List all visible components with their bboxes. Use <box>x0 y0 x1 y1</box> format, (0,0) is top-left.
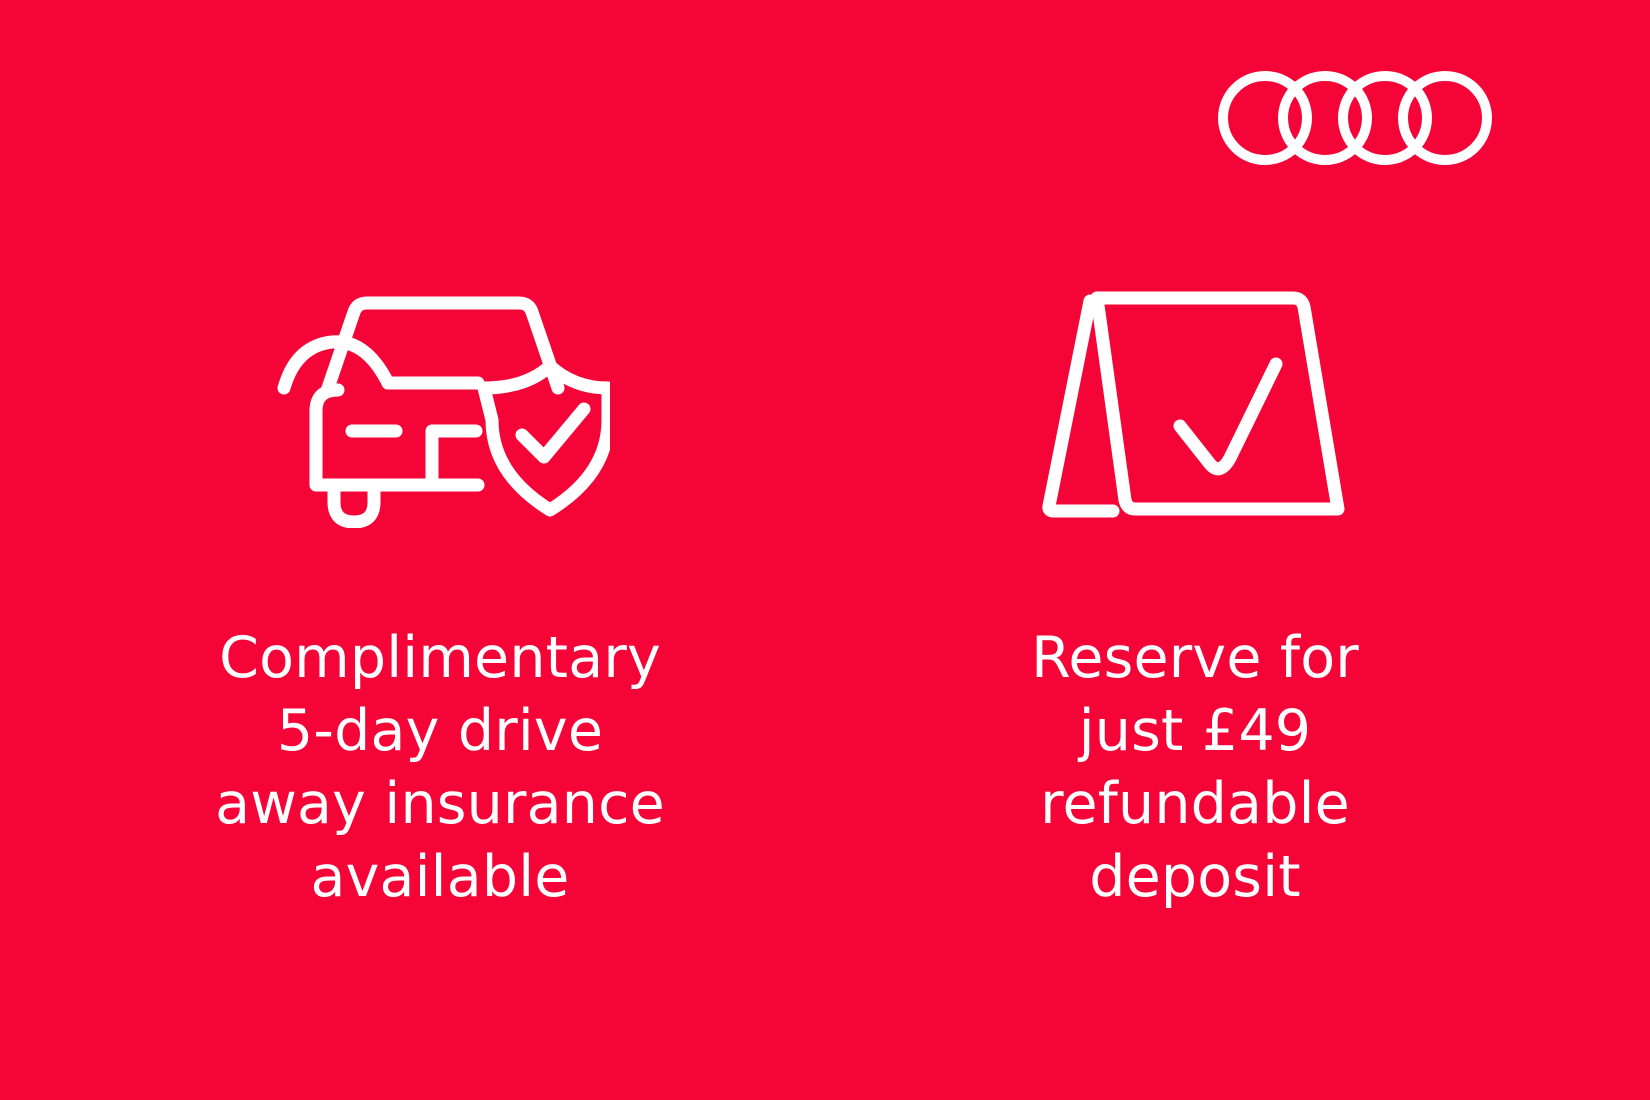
feature-caption-refundable-deposit: Reserve for just £49 refundable deposit <box>1031 622 1359 914</box>
tent-card-check-icon <box>1040 272 1350 534</box>
promo-banner: Complimentary 5-day drive away insurance… <box>0 0 1650 1100</box>
feature-caption-drive-away-insurance: Complimentary 5-day drive away insurance… <box>215 622 665 914</box>
feature-item-refundable-deposit: Reserve for just £49 refundable deposit <box>855 272 1535 914</box>
feature-list: Complimentary 5-day drive away insurance… <box>0 0 1650 1100</box>
car-shield-icon <box>270 272 610 534</box>
feature-item-drive-away-insurance: Complimentary 5-day drive away insurance… <box>100 272 780 914</box>
